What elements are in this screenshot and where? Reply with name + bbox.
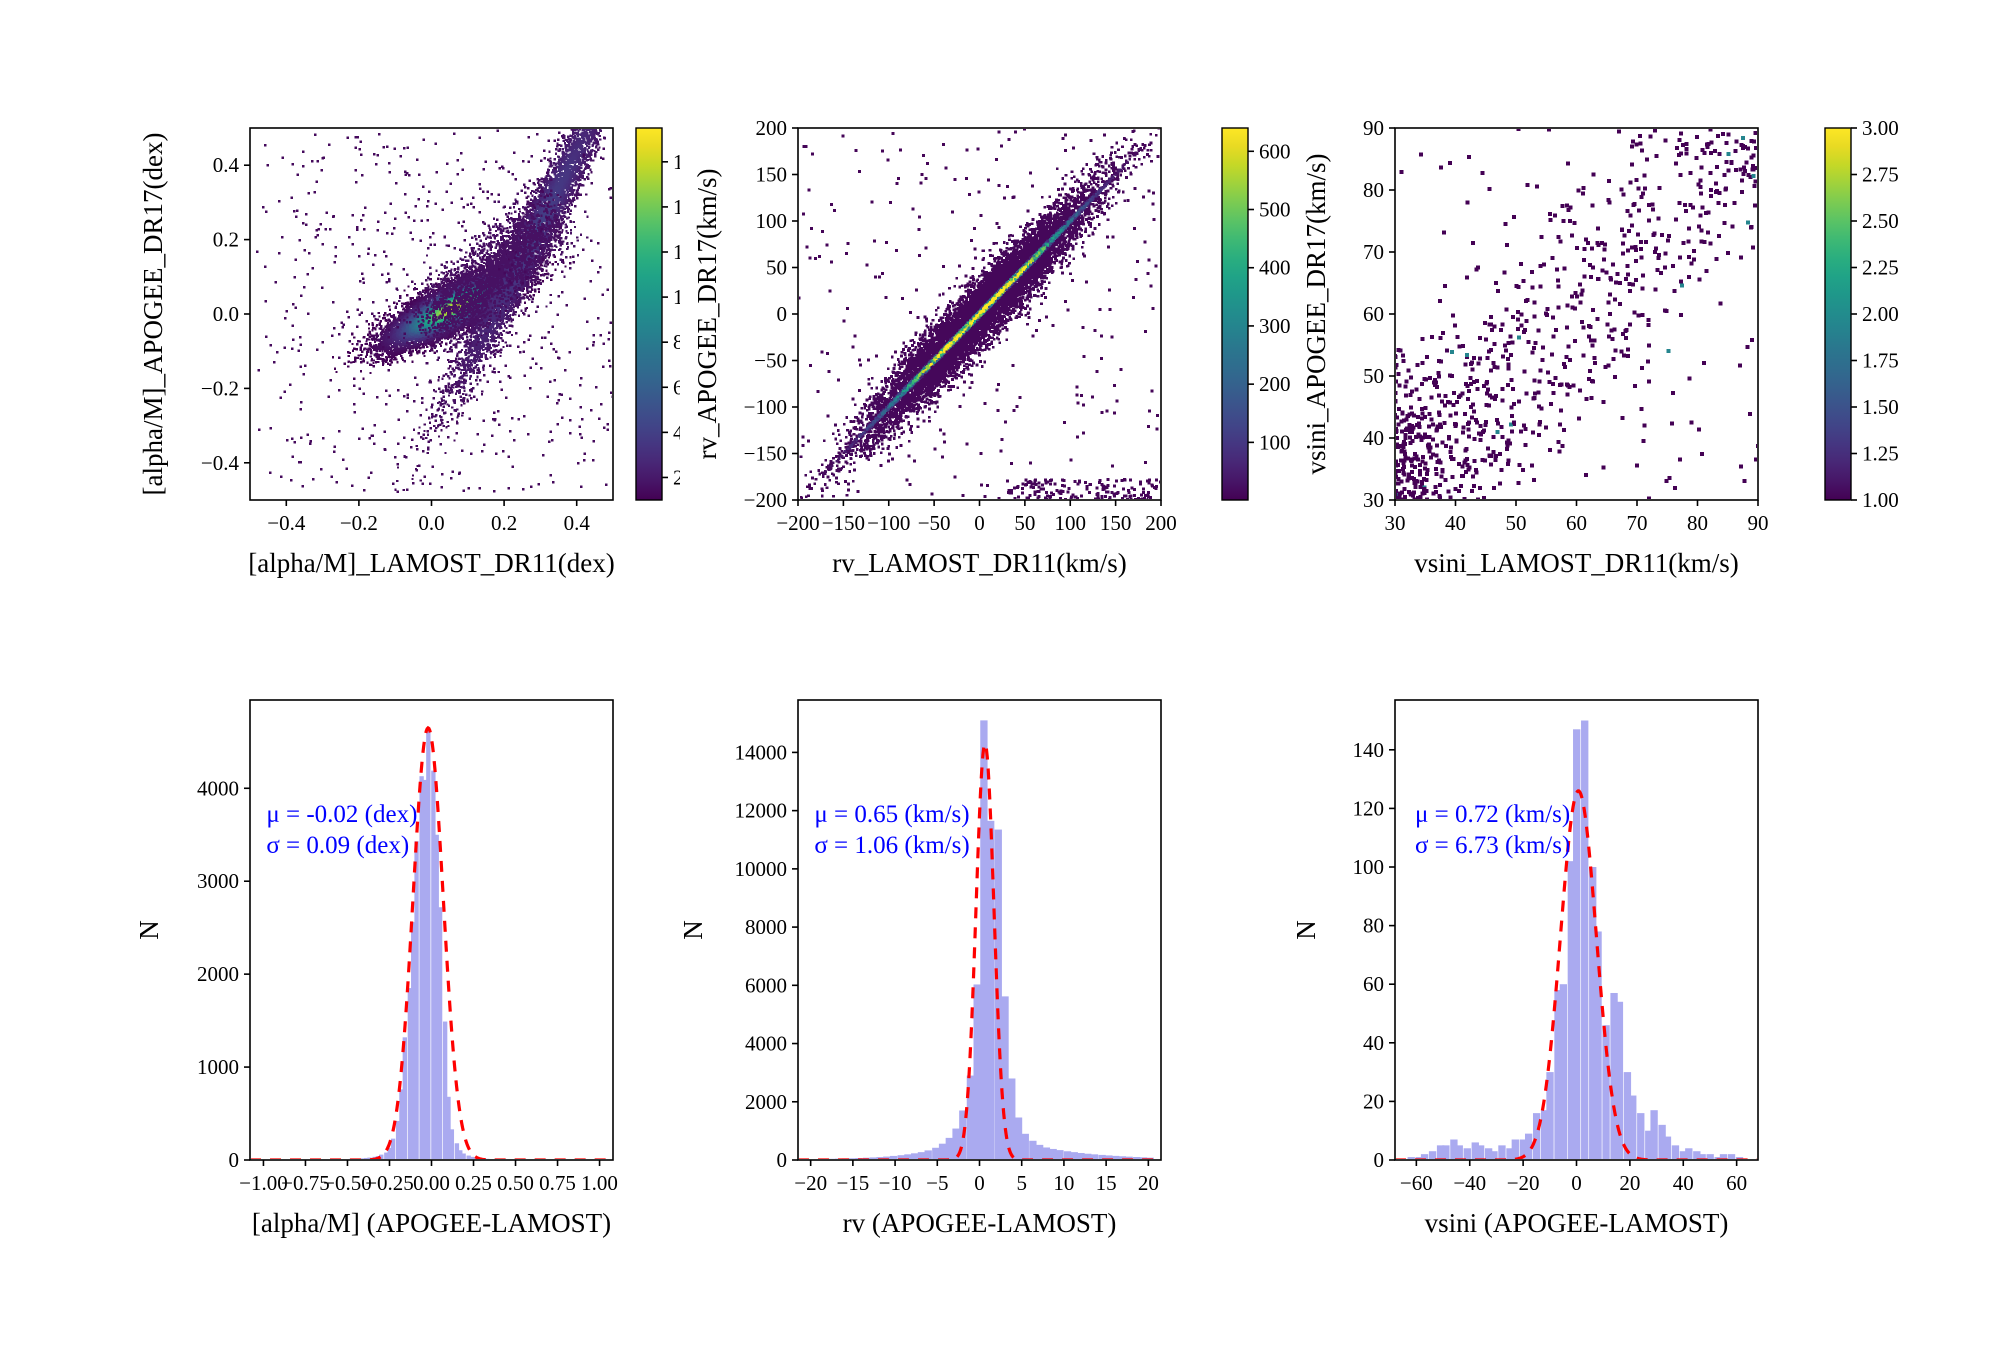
y-axis-label: N [134, 920, 164, 940]
hist-bar [1637, 1113, 1644, 1160]
colorbar-tick-label: 3.00 [1862, 116, 1899, 140]
x-tick-label: 20 [1619, 1171, 1640, 1195]
y-tick-label: 140 [1353, 738, 1385, 762]
mu-annotation: μ = -0.02 (dex) [266, 801, 417, 828]
hist-bar [1421, 1154, 1428, 1160]
hist-bar [1685, 1148, 1692, 1160]
x-tick-label: 60 [1566, 511, 1587, 535]
x-tick-label: −5 [926, 1171, 948, 1195]
y-tick-label: 50 [766, 256, 787, 280]
x-tick-label: −20 [794, 1171, 827, 1195]
x-tick-label: −0.2 [340, 511, 378, 535]
x-tick-label: 40 [1673, 1171, 1694, 1195]
colorbar-tick-label: 1.25 [1862, 442, 1899, 466]
x-tick-label: −15 [836, 1171, 869, 1195]
y-tick-label: 6000 [745, 973, 787, 997]
x-tick-label: −60 [1400, 1171, 1433, 1195]
x-tick-label: 200 [1145, 511, 1177, 535]
x-tick-label: 0.75 [539, 1171, 576, 1195]
x-axis-label: rv (APOGEE-LAMOST) [843, 1208, 1117, 1238]
y-tick-label: −200 [744, 488, 787, 512]
y-axis-label: N [678, 920, 708, 940]
hist-bar [1029, 1141, 1036, 1160]
hist-bar [974, 984, 981, 1160]
colorbar-tick-label: 1.00 [1862, 488, 1899, 512]
x-tick-label: 40 [1445, 511, 1466, 535]
x-tick-label: 30 [1385, 511, 1406, 535]
y-tick-label: 8000 [745, 915, 787, 939]
scatter-points [798, 127, 1162, 501]
hist-bar [1594, 931, 1601, 1160]
x-axis-label: rv_LAMOST_DR11(km/s) [832, 548, 1127, 578]
x-tick-label: −20 [1507, 1171, 1540, 1195]
x-axis-label: [alpha/M] (APOGEE-LAMOST) [252, 1208, 611, 1238]
y-tick-label: 0 [777, 302, 788, 326]
y-tick-label: −0.4 [201, 451, 240, 475]
sigma-annotation: σ = 1.06 (km/s) [814, 832, 969, 859]
x-axis-label: vsini (APOGEE-LAMOST) [1425, 1208, 1729, 1238]
y-tick-label: 0 [229, 1148, 240, 1172]
y-tick-label: 2000 [745, 1090, 787, 1114]
x-tick-label: 0.0 [418, 511, 444, 535]
histogram-bars [1408, 721, 1744, 1160]
y-tick-label: −0.2 [201, 376, 239, 400]
y-tick-label: 0.0 [213, 302, 239, 326]
hist-bar [1698, 1154, 1705, 1160]
hist-bar [450, 1129, 454, 1160]
y-axis-label: vsini_APOGEE_DR17(km/s) [1301, 153, 1331, 474]
hist-bar [1477, 1145, 1484, 1160]
colorbar-vsini: 1.001.251.501.752.002.252.502.753.00 [1825, 116, 1899, 512]
mu-annotation: μ = 0.72 (km/s) [1415, 801, 1570, 828]
hist-bar [1720, 1154, 1727, 1160]
histogram-bars [807, 720, 1154, 1160]
x-tick-label: 50 [1506, 511, 1527, 535]
x-tick-label: 0 [1571, 1171, 1582, 1195]
y-tick-label: 10000 [735, 857, 788, 881]
colorbar-tick-label: 2.50 [1862, 209, 1899, 233]
x-tick-label: 0.2 [491, 511, 517, 535]
plot-frame [1395, 128, 1758, 500]
y-tick-label: 200 [756, 116, 788, 140]
y-axis-label: N [1291, 920, 1321, 940]
y-tick-label: 40 [1363, 426, 1384, 450]
mu-annotation: μ = 0.65 (km/s) [814, 801, 969, 828]
panel-alpha-scatter: −0.4−0.20.00.20.40.40.20.0−0.2−0.4[alpha… [0, 0, 680, 700]
y-tick-label: 12000 [735, 799, 788, 823]
y-tick-label: 100 [756, 209, 788, 233]
y-tick-label: 0 [777, 1148, 788, 1172]
y-tick-label: 60 [1363, 972, 1384, 996]
x-tick-label: 15 [1096, 1171, 1117, 1195]
hist-bar [1022, 1134, 1029, 1160]
hist-bar [1672, 1145, 1679, 1160]
y-tick-label: 4000 [745, 1032, 787, 1056]
hist-bar [1581, 721, 1588, 1160]
x-tick-label: −10 [879, 1171, 912, 1195]
panel-alpha-hist: −1.00−0.75−0.50−0.250.000.250.500.751.00… [0, 660, 680, 1350]
hist-bar [1629, 1096, 1636, 1160]
y-tick-label: 120 [1353, 796, 1385, 820]
hist-bar [403, 1037, 407, 1160]
x-tick-label: 150 [1100, 511, 1132, 535]
y-tick-label: 0.2 [213, 228, 239, 252]
hist-bar [1560, 984, 1567, 1160]
scatter-points [1393, 127, 1760, 502]
x-tick-label: 90 [1748, 511, 1769, 535]
x-tick-label: 10 [1053, 1171, 1074, 1195]
y-tick-label: −150 [744, 442, 787, 466]
x-tick-label: 70 [1627, 511, 1648, 535]
y-tick-label: 70 [1363, 240, 1384, 264]
x-tick-label: −100 [867, 511, 910, 535]
sigma-annotation: σ = 6.73 (km/s) [1415, 832, 1570, 859]
hist-bar [980, 720, 987, 1160]
x-tick-label: 0 [974, 511, 985, 535]
y-tick-label: −50 [754, 349, 787, 373]
hist-bar [426, 729, 430, 1160]
hist-bar [1091, 1154, 1098, 1160]
x-tick-label: 1.00 [581, 1171, 618, 1195]
hist-bar [461, 1153, 465, 1160]
hist-bar [1043, 1147, 1050, 1160]
sigma-annotation: σ = 0.09 (dex) [266, 832, 409, 859]
x-tick-label: 0 [974, 1171, 985, 1195]
y-tick-label: 40 [1363, 1031, 1384, 1055]
hist-bar [1015, 1117, 1022, 1160]
hist-bar [932, 1148, 939, 1160]
hist-bar [946, 1138, 953, 1160]
x-tick-label: 0.4 [564, 511, 591, 535]
y-tick-label: 3000 [197, 869, 239, 893]
x-tick-label: −50 [918, 511, 951, 535]
hist-bar [1706, 1154, 1713, 1160]
y-tick-label: 60 [1363, 302, 1384, 326]
y-tick-label: 0 [1374, 1148, 1385, 1172]
y-axis-label: rv_APOGEE_DR17(km/s) [692, 169, 722, 460]
x-tick-label: −0.4 [267, 511, 306, 535]
y-tick-label: 20 [1363, 1089, 1384, 1113]
hist-bar [1616, 1002, 1623, 1160]
hist-bar [1602, 1025, 1609, 1160]
y-tick-label: 1000 [197, 1055, 239, 1079]
x-tick-label: 0.50 [497, 1171, 534, 1195]
hist-bar [939, 1144, 946, 1160]
hist-bar [911, 1153, 918, 1160]
hist-bar [1464, 1148, 1471, 1160]
colorbar-tick-label: 1.50 [1862, 395, 1899, 419]
x-tick-label: 0.00 [413, 1171, 450, 1195]
hist-bar [1442, 1145, 1449, 1160]
y-tick-label: 2000 [197, 962, 239, 986]
figure-canvas: −0.4−0.20.00.20.40.40.20.0−0.2−0.4[alpha… [0, 0, 2000, 1350]
hist-bar [1456, 1145, 1463, 1160]
y-tick-label: 80 [1363, 178, 1384, 202]
y-tick-label: 50 [1363, 364, 1384, 388]
x-tick-label: 5 [1016, 1171, 1026, 1195]
y-tick-label: −100 [744, 395, 787, 419]
x-tick-label: −200 [776, 511, 819, 535]
hist-bar [904, 1154, 911, 1160]
y-tick-label: 150 [756, 163, 788, 187]
hist-bar [1084, 1154, 1091, 1160]
panel-vsini-hist: −60−40−200204060020406080100120140vsini … [1285, 660, 2000, 1350]
x-tick-label: −150 [822, 511, 865, 535]
panel-vsini-scatter: 3040506070809090807060504030vsini_LAMOST… [1285, 0, 2000, 700]
hist-bar [1036, 1145, 1043, 1160]
colorbar-gradient [1222, 128, 1248, 500]
scatter-points [256, 127, 614, 493]
x-tick-label: 0.25 [455, 1171, 492, 1195]
hist-bar [1512, 1139, 1519, 1160]
x-axis-label: vsini_LAMOST_DR11(km/s) [1414, 548, 1739, 578]
x-tick-label: −0.25 [365, 1171, 414, 1195]
colorbar-gradient [1825, 128, 1851, 500]
hist-bar [1664, 1137, 1671, 1160]
panel-rv-scatter: −200−150−100−50050100150200200150100500−… [640, 0, 1340, 700]
y-tick-label: 80 [1363, 914, 1384, 938]
y-tick-label: 30 [1363, 488, 1384, 512]
hist-bar [1049, 1149, 1056, 1160]
y-axis-label: [alpha/M]_APOGEE_DR17(dex) [138, 133, 168, 496]
x-tick-label: 50 [1014, 511, 1035, 535]
colorbar-tick-label: 2.25 [1862, 256, 1899, 280]
x-tick-label: −40 [1453, 1171, 1486, 1195]
colorbar-tick-label: 2.00 [1862, 302, 1899, 326]
x-tick-label: 100 [1055, 511, 1087, 535]
x-tick-label: 80 [1687, 511, 1708, 535]
y-tick-label: 14000 [735, 740, 788, 764]
colorbar-rv: 100200300400500600 [1222, 128, 1291, 500]
x-tick-label: 60 [1726, 1171, 1747, 1195]
y-tick-label: 90 [1363, 116, 1384, 140]
panel-rv-hist: −20−15−10−505101520020004000600080001000… [640, 660, 1340, 1350]
x-axis-label: [alpha/M]_LAMOST_DR11(dex) [248, 548, 614, 578]
colorbar-tick-label: 1.75 [1862, 349, 1899, 373]
y-tick-label: 0.4 [213, 153, 240, 177]
hist-bar [438, 907, 442, 1160]
colorbar-tick-label: 2.75 [1862, 163, 1899, 187]
x-tick-label: 20 [1138, 1171, 1159, 1195]
hist-bar [1650, 1110, 1657, 1160]
y-tick-label: 100 [1353, 855, 1385, 879]
y-tick-label: 4000 [197, 776, 239, 800]
hist-bar [1498, 1145, 1505, 1160]
hist-bar [1728, 1154, 1735, 1160]
